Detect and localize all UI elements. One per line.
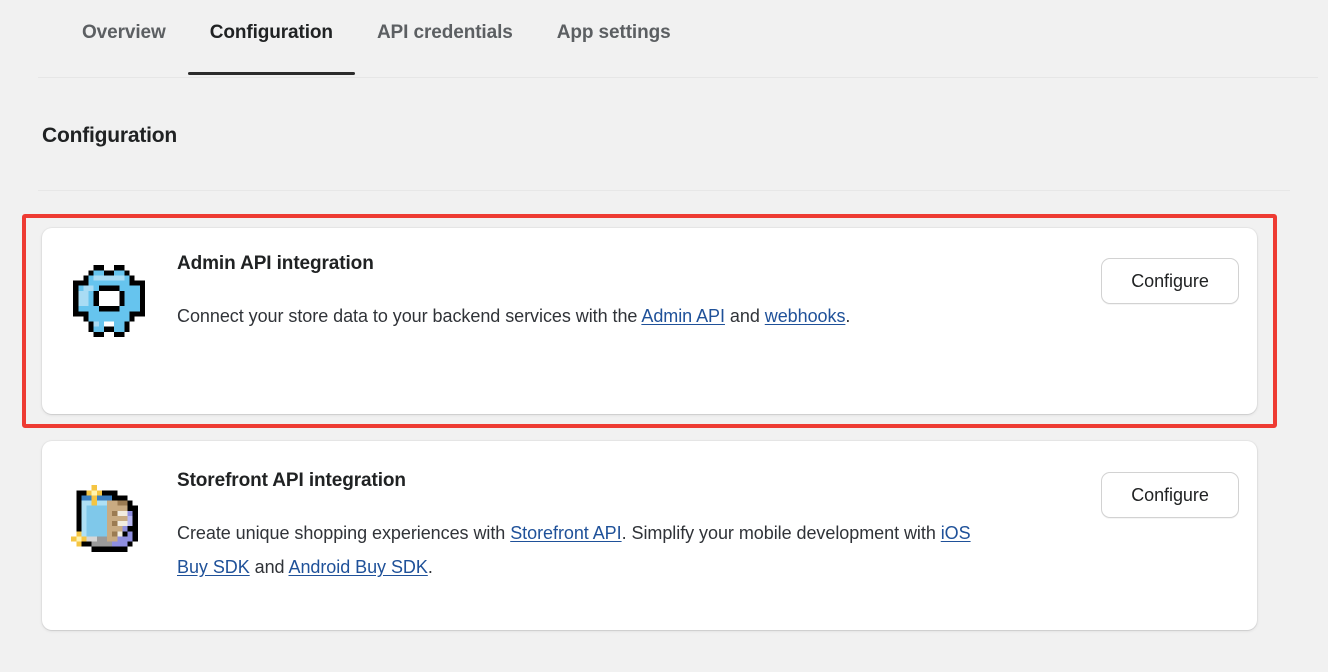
section-divider [38, 190, 1290, 191]
desc-text: . Simplify your mobile development with [622, 523, 941, 543]
gear-icon [68, 260, 150, 342]
link-webhooks[interactable]: webhooks [765, 306, 846, 326]
desc-text: . [428, 557, 433, 577]
card-storefront-api-integration: Storefront API integration Create unique… [42, 441, 1257, 630]
desc-text: Connect your store data to your backend … [177, 306, 641, 326]
desc-text: and [250, 557, 289, 577]
card-description: Create unique shopping experiences with … [177, 516, 997, 584]
card-title: Storefront API integration [177, 469, 1067, 494]
storefront-icon [66, 480, 148, 562]
link-storefront-api[interactable]: Storefront API [510, 523, 621, 543]
link-android-buy-sdk[interactable]: Android Buy SDK [288, 557, 427, 577]
desc-text: Create unique shopping experiences with [177, 523, 510, 543]
tab-bar: Overview Configuration API credentials A… [0, 0, 1328, 78]
configure-button-admin-api[interactable]: Configure [1101, 258, 1239, 304]
tab-configuration[interactable]: Configuration [188, 0, 355, 45]
card-admin-api-integration: Admin API integration Connect your store… [42, 228, 1257, 414]
tab-overview[interactable]: Overview [60, 0, 188, 45]
desc-text: . [845, 306, 850, 326]
configuration-page: Overview Configuration API credentials A… [0, 0, 1328, 672]
configure-button-storefront-api[interactable]: Configure [1101, 472, 1239, 518]
tab-bar-divider [38, 77, 1318, 78]
card-title: Admin API integration [177, 252, 1067, 277]
tab-api-credentials[interactable]: API credentials [355, 0, 535, 45]
link-admin-api[interactable]: Admin API [641, 306, 725, 326]
page-title: Configuration [42, 124, 177, 148]
card-description: Connect your store data to your backend … [177, 299, 967, 333]
tab-app-settings[interactable]: App settings [535, 0, 693, 45]
desc-text: and [725, 306, 765, 326]
